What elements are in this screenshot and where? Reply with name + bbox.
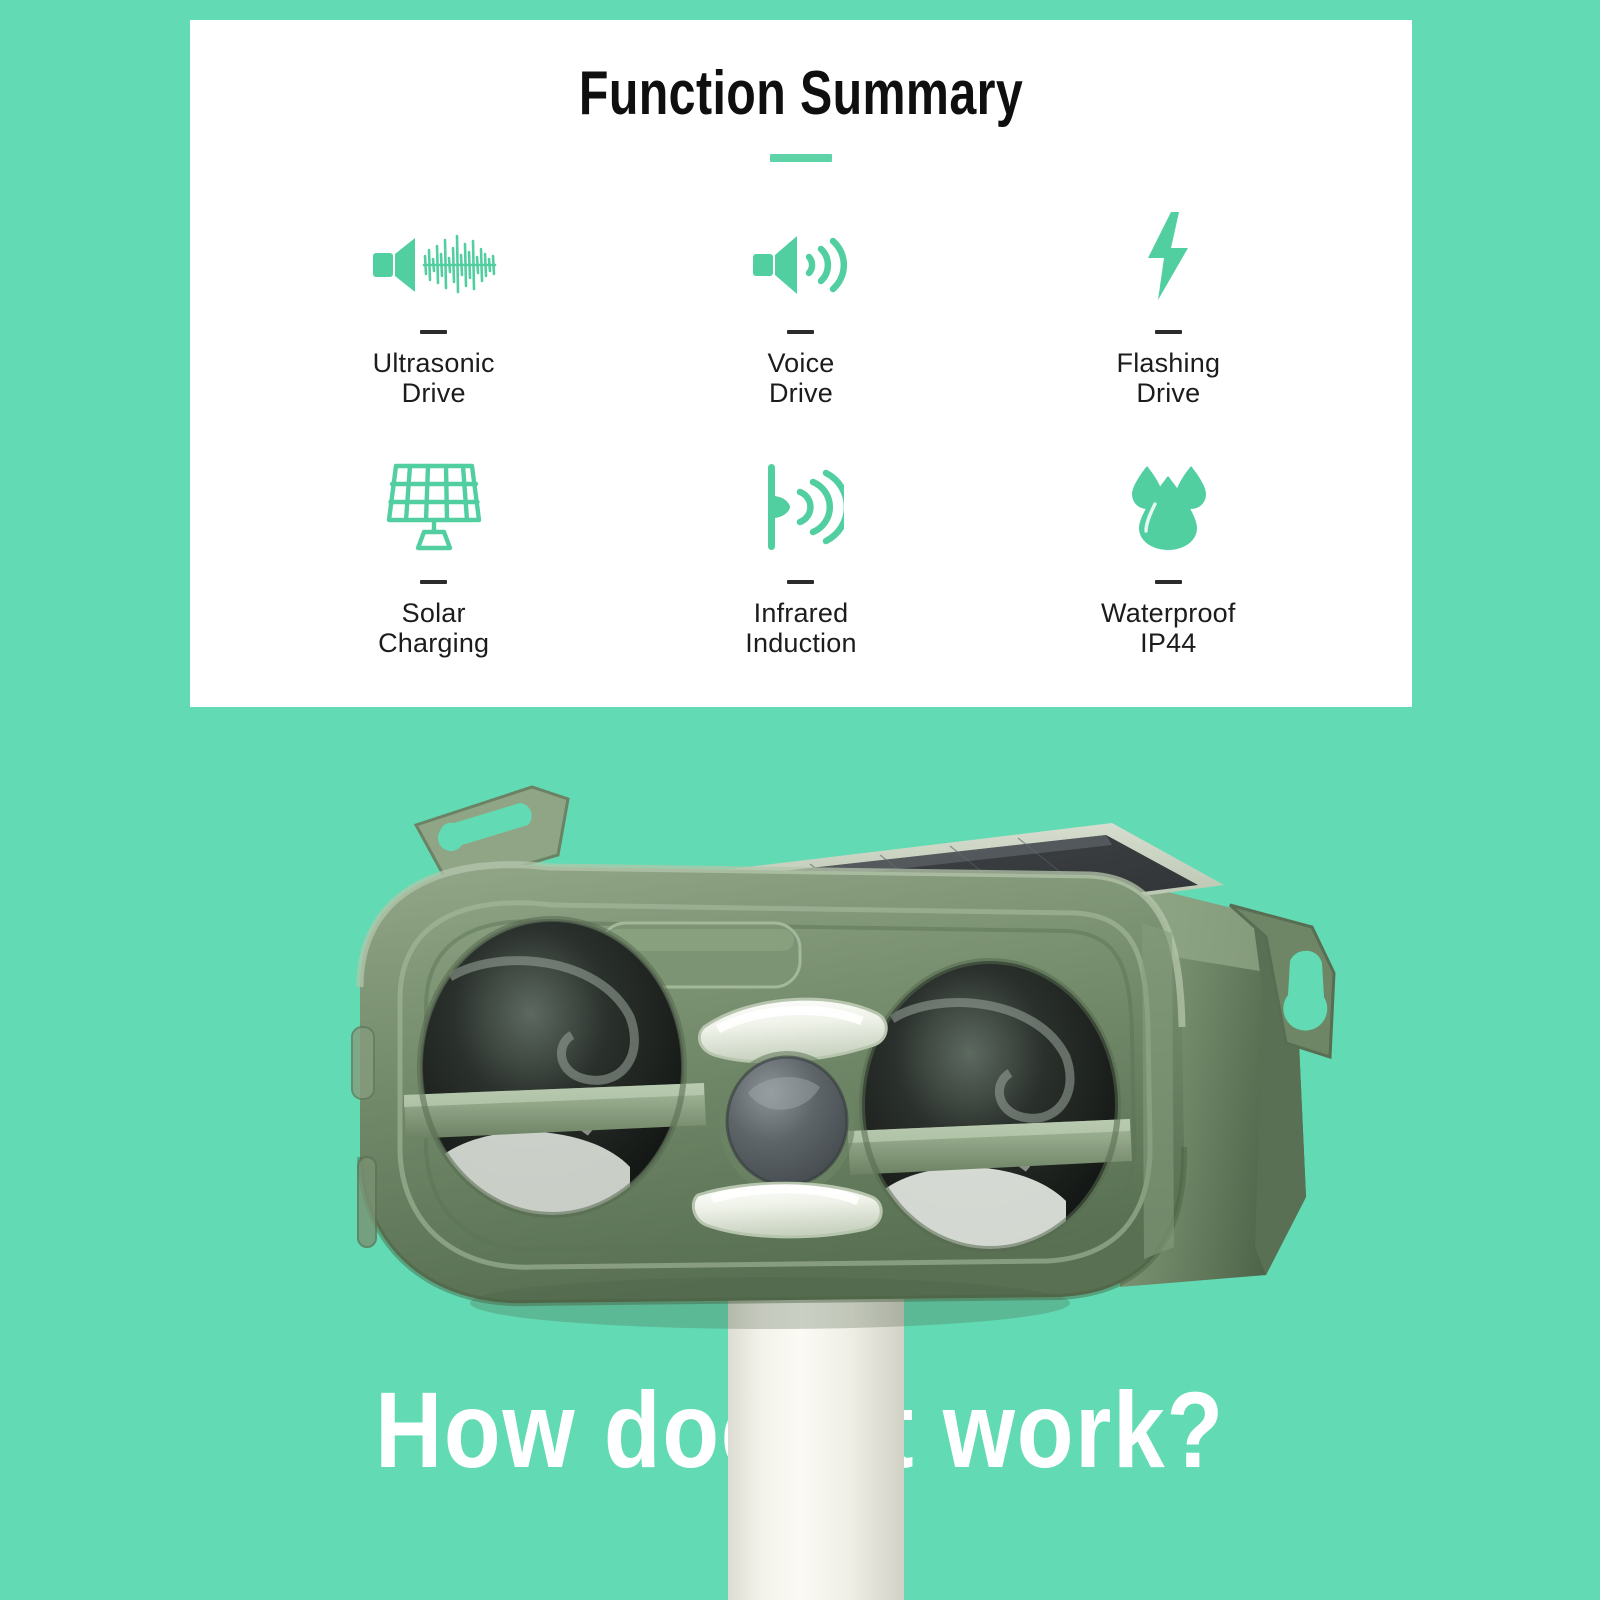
page-title: Function Summary (324, 58, 1277, 129)
feature-label-line2: IP44 (1101, 628, 1236, 658)
feature-label-line1: Solar (378, 598, 489, 628)
label-divider-dash (420, 580, 447, 584)
label-divider-dash (787, 580, 814, 584)
feature-label-line2: Drive (1117, 378, 1221, 408)
pir-motion-sensor-dome (719, 1051, 855, 1195)
led-strip-lower (693, 1183, 881, 1237)
voice-speaker-waves-icon (749, 210, 853, 302)
feature-label-line2: Induction (745, 628, 856, 658)
feature-label-line1: Voice (767, 348, 834, 378)
product-scene: How does it work? (0, 707, 1600, 1600)
infographic-stage: Function Summary (0, 0, 1600, 1600)
feature-label-line1: Flashing (1117, 348, 1221, 378)
feature-label-solar-charging: Solar Charging (378, 598, 489, 658)
solar-panel-icon (382, 460, 486, 552)
feature-label-waterproof-ip44: Waterproof IP44 (1101, 598, 1236, 658)
lightning-bolt-icon (1138, 210, 1198, 302)
feature-item-waterproof-ip44: Waterproof IP44 (985, 460, 1352, 710)
feature-label-infrared-induction: Infrared Induction (745, 598, 856, 658)
label-divider-dash (1155, 330, 1182, 334)
label-divider-dash (787, 330, 814, 334)
infrared-sensor-waves-icon (758, 460, 844, 552)
feature-label-line2: Drive (767, 378, 834, 408)
feature-label-voice-drive: Voice Drive (767, 348, 834, 408)
label-divider-dash (420, 330, 447, 334)
feature-item-flashing-drive: Flashing Drive (985, 210, 1352, 460)
function-summary-card: Function Summary (190, 20, 1412, 707)
water-droplets-icon (1125, 460, 1211, 552)
ultrasonic-speaker-waveform-icon (369, 210, 499, 302)
title-underline-rule (770, 154, 832, 162)
feature-item-infrared-induction: Infrared Induction (617, 460, 984, 710)
label-divider-dash (1155, 580, 1182, 584)
feature-item-voice-drive: Voice Drive (617, 210, 984, 460)
feature-label-line2: Charging (378, 628, 489, 658)
feature-grid: Ultrasonic Drive (250, 210, 1352, 710)
feature-item-solar-charging: Solar Charging (250, 460, 617, 710)
feature-label-ultrasonic-drive: Ultrasonic Drive (373, 348, 495, 408)
feature-label-line1: Waterproof (1101, 598, 1236, 628)
feature-label-flashing-drive: Flashing Drive (1117, 348, 1221, 408)
feature-label-line2: Drive (373, 378, 495, 408)
solar-ultrasonic-animal-repeller (300, 727, 1360, 1347)
feature-label-line1: Ultrasonic (373, 348, 495, 378)
feature-item-ultrasonic-drive: Ultrasonic Drive (250, 210, 617, 460)
feature-label-line1: Infrared (745, 598, 856, 628)
